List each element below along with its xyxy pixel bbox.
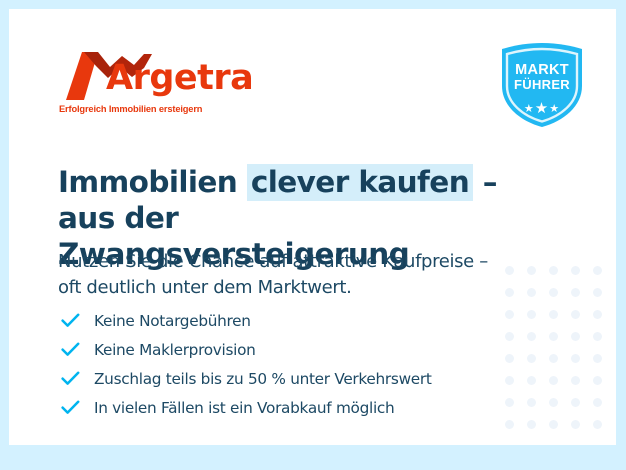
ad-content-card: Argetra Erfolgreich Immobilien ersteiger… (9, 9, 616, 445)
dot (593, 288, 602, 297)
dot (571, 354, 580, 363)
check-icon (61, 369, 87, 389)
dot (549, 332, 558, 341)
list-item-label: In vielen Fällen ist ein Vorabkauf mögli… (87, 399, 394, 417)
dot (571, 376, 580, 385)
dot (571, 266, 580, 275)
list-item-label: Zuschlag teils bis zu 50 % unter Verkehr… (87, 370, 432, 388)
headline-highlight: clever kaufen (247, 164, 473, 201)
dot (549, 398, 558, 407)
dot (571, 332, 580, 341)
dot (549, 310, 558, 319)
subtitle: Nutzen Sie die Chance auf attraktive Kau… (58, 249, 558, 301)
headline-part-after: – (473, 165, 497, 199)
dot (527, 332, 536, 341)
dot (527, 310, 536, 319)
ad-banner: Argetra Erfolgreich Immobilien ersteiger… (0, 0, 626, 470)
shield-icon (496, 42, 588, 128)
dot (593, 310, 602, 319)
logo-wordmark: Argetra (106, 61, 253, 96)
dot (571, 420, 580, 429)
list-item: Zuschlag teils bis zu 50 % unter Verkehr… (61, 364, 521, 393)
dot (549, 376, 558, 385)
argetra-logo[interactable]: Argetra Erfolgreich Immobilien ersteiger… (58, 48, 258, 120)
list-item-label: Keine Notargebühren (87, 312, 251, 330)
check-icon (61, 398, 87, 418)
dot (593, 398, 602, 407)
dot (593, 354, 602, 363)
dot (527, 354, 536, 363)
logo-tagline: Erfolgreich Immobilien ersteigern (59, 104, 202, 114)
check-icon (61, 340, 87, 360)
dot (527, 398, 536, 407)
list-item: Keine Notargebühren (61, 306, 521, 335)
benefits-list: Keine NotargebührenKeine Maklerprovision… (61, 306, 521, 422)
subtitle-line-2: oft deutlich unter dem Marktwert. (58, 277, 352, 298)
dot (593, 266, 602, 275)
dot (549, 420, 558, 429)
dot (571, 310, 580, 319)
dot (593, 420, 602, 429)
dot (527, 376, 536, 385)
subtitle-line-1: Nutzen Sie die Chance auf attraktive Kau… (58, 251, 488, 272)
dot (527, 420, 536, 429)
dot (593, 376, 602, 385)
dot (571, 398, 580, 407)
dot (549, 354, 558, 363)
list-item: Keine Maklerprovision (61, 335, 521, 364)
list-item: In vielen Fällen ist ein Vorabkauf mögli… (61, 393, 521, 422)
headline-part-before: Immobilien (58, 165, 247, 199)
check-icon (61, 311, 87, 331)
markt-fuehrer-badge: MARKT FÜHRER ★★★ (496, 42, 588, 128)
list-item-label: Keine Maklerprovision (87, 341, 256, 359)
dot (571, 288, 580, 297)
dot (593, 332, 602, 341)
